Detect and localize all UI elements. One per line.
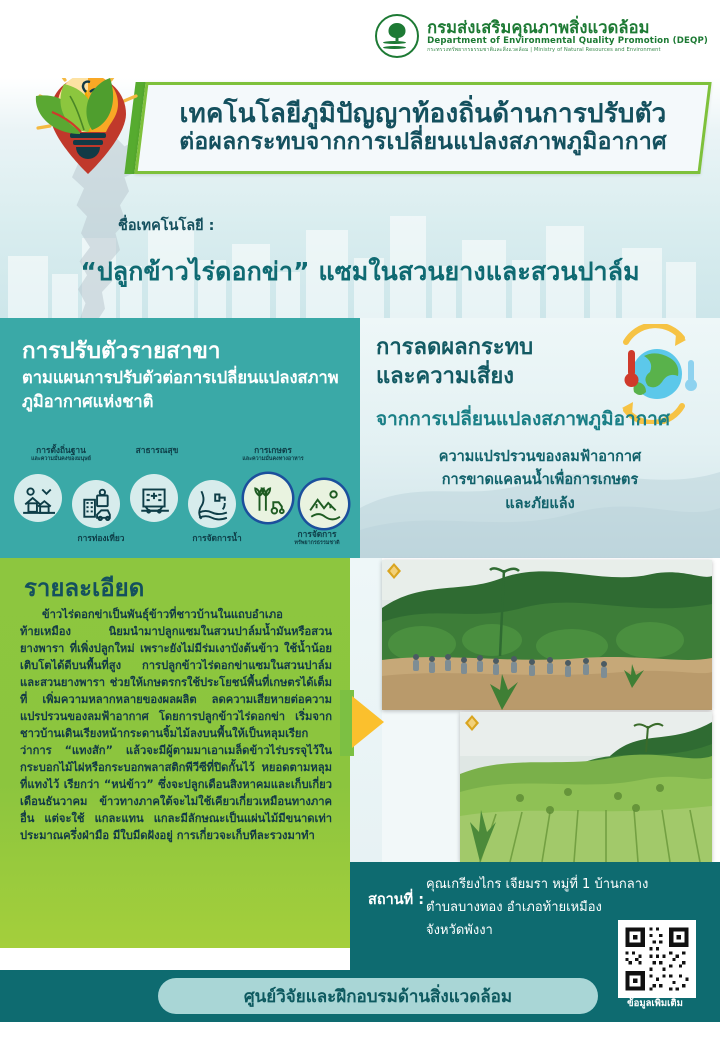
sector-adaptation-panel: การปรับตัวรายสาขา ตามแผนการปรับตัวต่อการ… [0, 318, 360, 558]
footer-center-label: ศูนย์วิจัยและฝึกอบรมด้านสิ่งแวดล้อม [244, 983, 512, 1010]
qr-caption: ข้อมูลเพิ่มเติม [612, 996, 698, 1011]
page-title-line2: ต่อผลกระทบจากการเปลี่ยนแปลงสภาพภูมิอากาศ [179, 130, 667, 156]
sector-label-3: สาธารณสุข [102, 446, 212, 456]
sector-title: การจัดการ [272, 530, 360, 540]
sector-subtitle: และความมั่นคงทางอาหาร [218, 456, 328, 462]
details-body: ข้าวไร่ดอกข่าเป็นพันธุ์ข้าวที่ชาวบ้านในแ… [20, 606, 332, 844]
lightbulb-leaf-map-pin-icon [18, 56, 158, 216]
settlement-houses-icon [14, 474, 62, 522]
photo-young-upland-rice-field [460, 712, 712, 862]
yellow-triangle-arrow-icon [350, 692, 386, 752]
details-panel: รายละเอียด ข้าวไร่ดอกข่าเป็นพันธุ์ข้าวที… [0, 558, 350, 948]
sector-panel-heading: การปรับตัวรายสาขา [22, 332, 221, 368]
mitigation-heading: การลดผลกระทบ และความเสี่ยง [376, 334, 533, 391]
qr-code-icon[interactable] [618, 920, 696, 998]
technology-name: “ปลูกข้าวไร่ดอกข่า” แซมในสวนยางและสวนปาล… [0, 252, 720, 292]
sector-title: สาธารณสุข [102, 446, 212, 456]
mitigation-heading-line2: และความเสี่ยง [376, 363, 533, 392]
risk-list: ความแปรปรวนของลมฟ้าอากาศการขาดแคลนน้ำเพื… [360, 446, 720, 516]
poster-root: กรมส่งเสริมคุณภาพสิ่งแวดล้อม Department … [0, 0, 720, 1040]
footer-center-pill: ศูนย์วิจัยและฝึกอบรมด้านสิ่งแวดล้อม [158, 978, 598, 1014]
risk-item-1: ความแปรปรวนของลมฟ้าอากาศ [360, 446, 720, 469]
agriculture-wheat-tractor-icon [244, 474, 292, 522]
sector-label-1: การตั้งถิ่นฐานและความมั่นคงของมนุษย์ [6, 446, 116, 462]
public-health-hospital-icon [130, 474, 178, 522]
sector-icon-row: การตั้งถิ่นฐานและความมั่นคงของมนุษย์การท… [6, 446, 356, 552]
sector-subtitle: และความมั่นคงของมนุษย์ [6, 456, 116, 462]
photo-villagers-planting-rice-on-hillside [382, 560, 712, 710]
sector-label-4: การจัดการน้ำ [162, 534, 272, 544]
details-title: รายละเอียด [24, 568, 144, 607]
sector-label-6: การจัดการทรัพยากรธรรมชาติ [272, 530, 360, 546]
org-name-en: Department of Environmental Quality Prom… [427, 37, 708, 46]
technology-label: ชื่อเทคโนโลยี : [118, 214, 214, 237]
sector-title: การตั้งถิ่นฐาน [6, 446, 116, 456]
risk-item-3: และภัยแล้ง [360, 493, 720, 516]
sector-title: การท่องเที่ยว [46, 534, 156, 544]
org-name-th: กรมส่งเสริมคุณภาพสิ่งแวดล้อม [427, 19, 708, 36]
mitigation-risk-panel: การลดผลกระทบ และความเสี่ยง จากการเปลี่ยน… [360, 318, 720, 558]
gold-photo-pin-icon [386, 562, 402, 580]
location-label: สถานที่ : [368, 888, 424, 911]
sector-title: การเกษตร [218, 446, 328, 456]
mitigation-subheading: จากการเปลี่ยนแปลงสภาพภูมิอากาศ [376, 404, 670, 434]
page-title-line1: เทคโนโลยีภูมิปัญญาท้องถิ่นด้านการปรับตัว [180, 100, 667, 129]
bottom-white-margin [0, 1022, 720, 1040]
natural-resources-mountain-icon [300, 480, 348, 528]
sector-label-2: การท่องเที่ยว [46, 534, 156, 544]
location-line-2: ตำบลบางทอง อำเภอท้ายเหมือง [426, 897, 676, 920]
sector-label-5: การเกษตรและความมั่นคงทางอาหาร [218, 446, 328, 462]
main-title-banner: เทคโนโลยีภูมิปัญญาท้องถิ่นด้านการปรับตัว… [140, 82, 706, 174]
location-line-1: คุณเกรียงไกร เจียมรา หมู่ที่ 1 บ้านกลาง [426, 874, 676, 897]
gold-photo-pin-icon [464, 714, 480, 732]
org-ministry: กระทรวงทรัพยากรธรรมชาติและสิ่งแวดล้อม | … [427, 48, 708, 54]
tourism-city-car-icon [72, 480, 120, 528]
mitigation-heading-line1: การลดผลกระทบ [376, 334, 533, 363]
deqp-tree-seal-icon [375, 14, 419, 58]
sector-title: การจัดการน้ำ [162, 534, 272, 544]
water-management-tap-icon [188, 480, 236, 528]
risk-item-2: การขาดแคลนน้ำเพื่อการเกษตร [360, 469, 720, 492]
deqp-logo: กรมส่งเสริมคุณภาพสิ่งแวดล้อม Department … [375, 14, 708, 58]
sector-subtitle: ทรัพยากรธรรมชาติ [272, 540, 360, 546]
poster-header: กรมส่งเสริมคุณภาพสิ่งแวดล้อม Department … [0, 0, 720, 78]
panel-gap-fill-lower [382, 710, 460, 862]
sector-panel-subheading: ตามแผนการปรับตัวต่อการเปลี่ยนแปลงสภาพภูม… [22, 366, 342, 414]
